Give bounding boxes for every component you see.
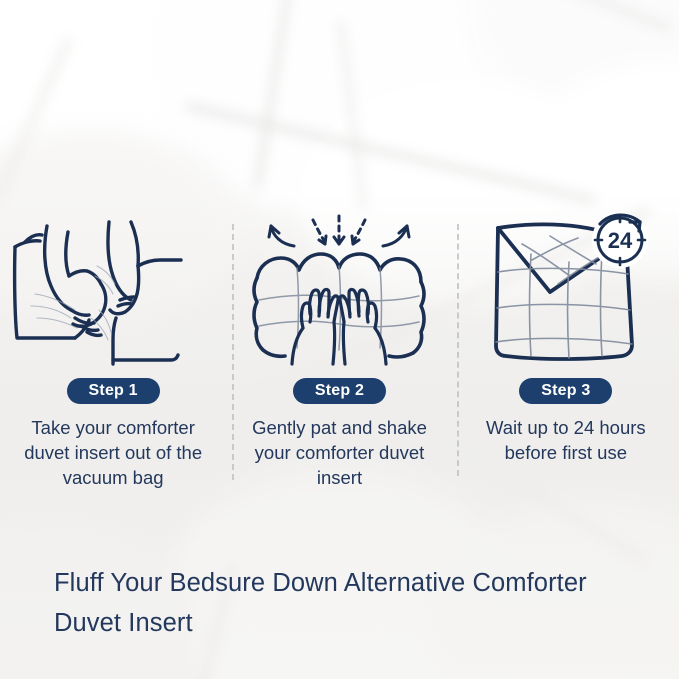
24-hour-label: 24 [608, 228, 633, 253]
fluff-arrows-icon [269, 216, 409, 246]
headline-line-2: Duvet Insert [54, 603, 654, 643]
headline-line-1: Fluff Your Bedsure Down Alternative Comf… [54, 563, 654, 603]
infographic-page: Step 1 Take your comforter duvet insert … [0, 0, 679, 679]
step-1-illustration [0, 212, 226, 364]
step-3-illustration: 24 [453, 212, 679, 364]
step-1-badge: Step 1 [67, 378, 160, 404]
24-hour-badge-icon: 24 [593, 213, 647, 267]
step-3-badge: Step 3 [519, 378, 612, 404]
step-2-badge: Step 2 [293, 378, 386, 404]
folded-comforter-icon: 24 [476, 214, 656, 364]
step-2-illustration [226, 212, 452, 364]
step-3-text: Wait up to 24 hours before first use [468, 415, 664, 465]
quilt-stitching [259, 266, 419, 350]
hands-patting-comforter-icon [249, 214, 429, 364]
step-column-3: 24 Step 3 Wait up to 24 hours before fir… [453, 212, 679, 492]
hands-pulling-comforter-icon [13, 214, 213, 364]
step-column-2: Step 2 Gently pat and shake your comfort… [226, 212, 452, 492]
headline: Fluff Your Bedsure Down Alternative Comf… [54, 563, 654, 643]
step-1-text: Take your comforter duvet insert out of … [15, 415, 211, 490]
step-2-text: Gently pat and shake your comforter duve… [241, 415, 437, 490]
step-column-1: Step 1 Take your comforter duvet insert … [0, 212, 226, 492]
steps-row: Step 1 Take your comforter duvet insert … [0, 212, 679, 492]
